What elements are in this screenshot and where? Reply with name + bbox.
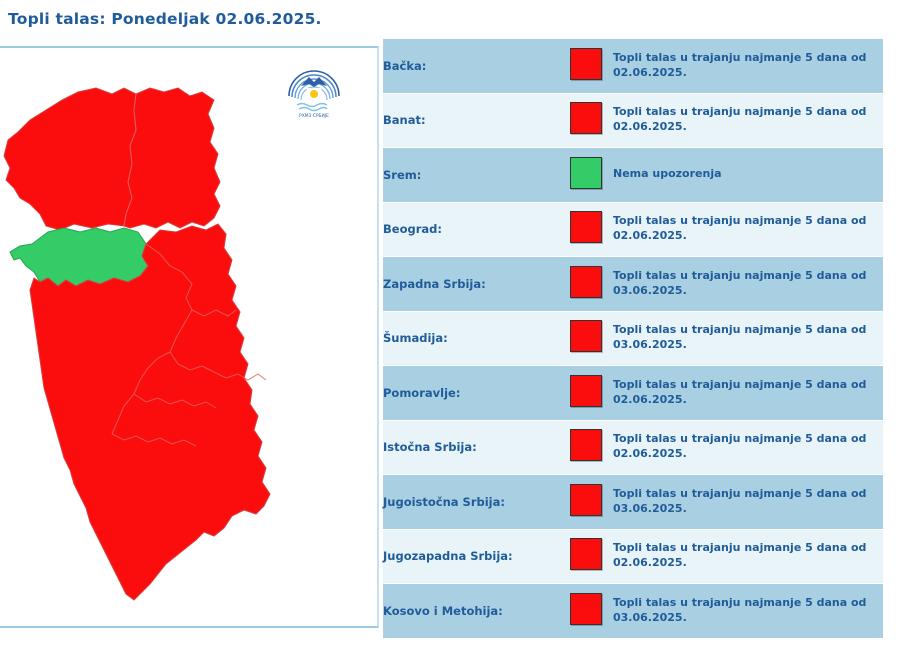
swatch-cell: [558, 475, 613, 530]
rhmz-serbia-logo: РХМЗ СРБИЈЕ: [283, 62, 345, 124]
table-row[interactable]: Pomoravlje:Topli talas u trajanju najman…: [383, 366, 883, 421]
region-name: Bačka:: [383, 39, 558, 94]
region-name: Jugozapadna Srbija:: [383, 529, 558, 584]
map-region-central-serbia[interactable]: [30, 224, 270, 600]
red-alert-swatch: [570, 538, 602, 570]
table-row[interactable]: Jugozapadna Srbija:Topli talas u trajanj…: [383, 529, 883, 584]
red-alert-swatch: [570, 102, 602, 134]
logo-caption: РХМЗ СРБИЈЕ: [299, 113, 329, 119]
serbia-regions-map[interactable]: [0, 48, 379, 626]
red-alert-swatch: [570, 48, 602, 80]
region-name: Zapadna Srbija:: [383, 257, 558, 312]
warning-description: Topli talas u trajanju najmanje 5 dana o…: [613, 257, 883, 312]
region-name: Banat:: [383, 93, 558, 148]
red-alert-swatch: [570, 484, 602, 516]
region-name: Šumadija:: [383, 311, 558, 366]
swatch-cell: [558, 93, 613, 148]
swatch-cell: [558, 148, 613, 203]
swatch-cell: [558, 311, 613, 366]
region-name: Pomoravlje:: [383, 366, 558, 421]
warning-description: Topli talas u trajanju najmanje 5 dana o…: [613, 529, 883, 584]
warning-description: Topli talas u trajanju najmanje 5 dana o…: [613, 366, 883, 421]
table-row[interactable]: Bačka:Topli talas u trajanju najmanje 5 …: [383, 39, 883, 94]
warning-description: Topli talas u trajanju najmanje 5 dana o…: [613, 202, 883, 257]
warning-description: Topli talas u trajanju najmanje 5 dana o…: [613, 93, 883, 148]
red-alert-swatch: [570, 211, 602, 243]
region-name: Kosovo i Metohija:: [383, 584, 558, 639]
table-row[interactable]: Beograd:Topli talas u trajanju najmanje …: [383, 202, 883, 257]
warning-description: Topli talas u trajanju najmanje 5 dana o…: [613, 39, 883, 94]
swatch-cell: [558, 202, 613, 257]
region-name: Istočna Srbija:: [383, 420, 558, 475]
map-region-srem[interactable]: [10, 228, 148, 286]
table-row[interactable]: Istočna Srbija:Topli talas u trajanju na…: [383, 420, 883, 475]
map-panel: [0, 46, 379, 628]
map-region-backa[interactable]: [4, 88, 136, 230]
table-row[interactable]: Zapadna Srbija:Topli talas u trajanju na…: [383, 257, 883, 312]
region-name: Beograd:: [383, 202, 558, 257]
warnings-table: Bačka:Topli talas u trajanju najmanje 5 …: [383, 38, 883, 639]
swatch-cell: [558, 366, 613, 421]
region-name: Jugoistočna Srbija:: [383, 475, 558, 530]
warning-description: Topli talas u trajanju najmanje 5 dana o…: [613, 420, 883, 475]
red-alert-swatch: [570, 593, 602, 625]
table-row[interactable]: Kosovo i Metohija:Topli talas u trajanju…: [383, 584, 883, 639]
red-alert-swatch: [570, 320, 602, 352]
warning-description: Topli talas u trajanju najmanje 5 dana o…: [613, 311, 883, 366]
swatch-cell: [558, 420, 613, 475]
swatch-cell: [558, 257, 613, 312]
page-title: Topli talas: Ponedeljak 02.06.2025.: [0, 10, 322, 28]
table-row[interactable]: Banat:Topli talas u trajanju najmanje 5 …: [383, 93, 883, 148]
red-alert-swatch: [570, 429, 602, 461]
red-alert-swatch: [570, 266, 602, 298]
red-alert-swatch: [570, 375, 602, 407]
warning-description: Topli talas u trajanju najmanje 5 dana o…: [613, 475, 883, 530]
swatch-cell: [558, 39, 613, 94]
table-row[interactable]: Jugoistočna Srbija:Topli talas u trajanj…: [383, 475, 883, 530]
map-region-banat[interactable]: [124, 88, 220, 228]
swatch-cell: [558, 529, 613, 584]
table-row[interactable]: Srem:Nema upozorenja: [383, 148, 883, 203]
swatch-cell: [558, 584, 613, 639]
region-name: Srem:: [383, 148, 558, 203]
warning-description: Topli talas u trajanju najmanje 5 dana o…: [613, 584, 883, 639]
green-no-alert-swatch: [570, 157, 602, 189]
table-row[interactable]: Šumadija:Topli talas u trajanju najmanje…: [383, 311, 883, 366]
title-bar: Topli talas: Ponedeljak 02.06.2025.: [0, 0, 380, 38]
warning-description: Nema upozorenja: [613, 148, 883, 203]
